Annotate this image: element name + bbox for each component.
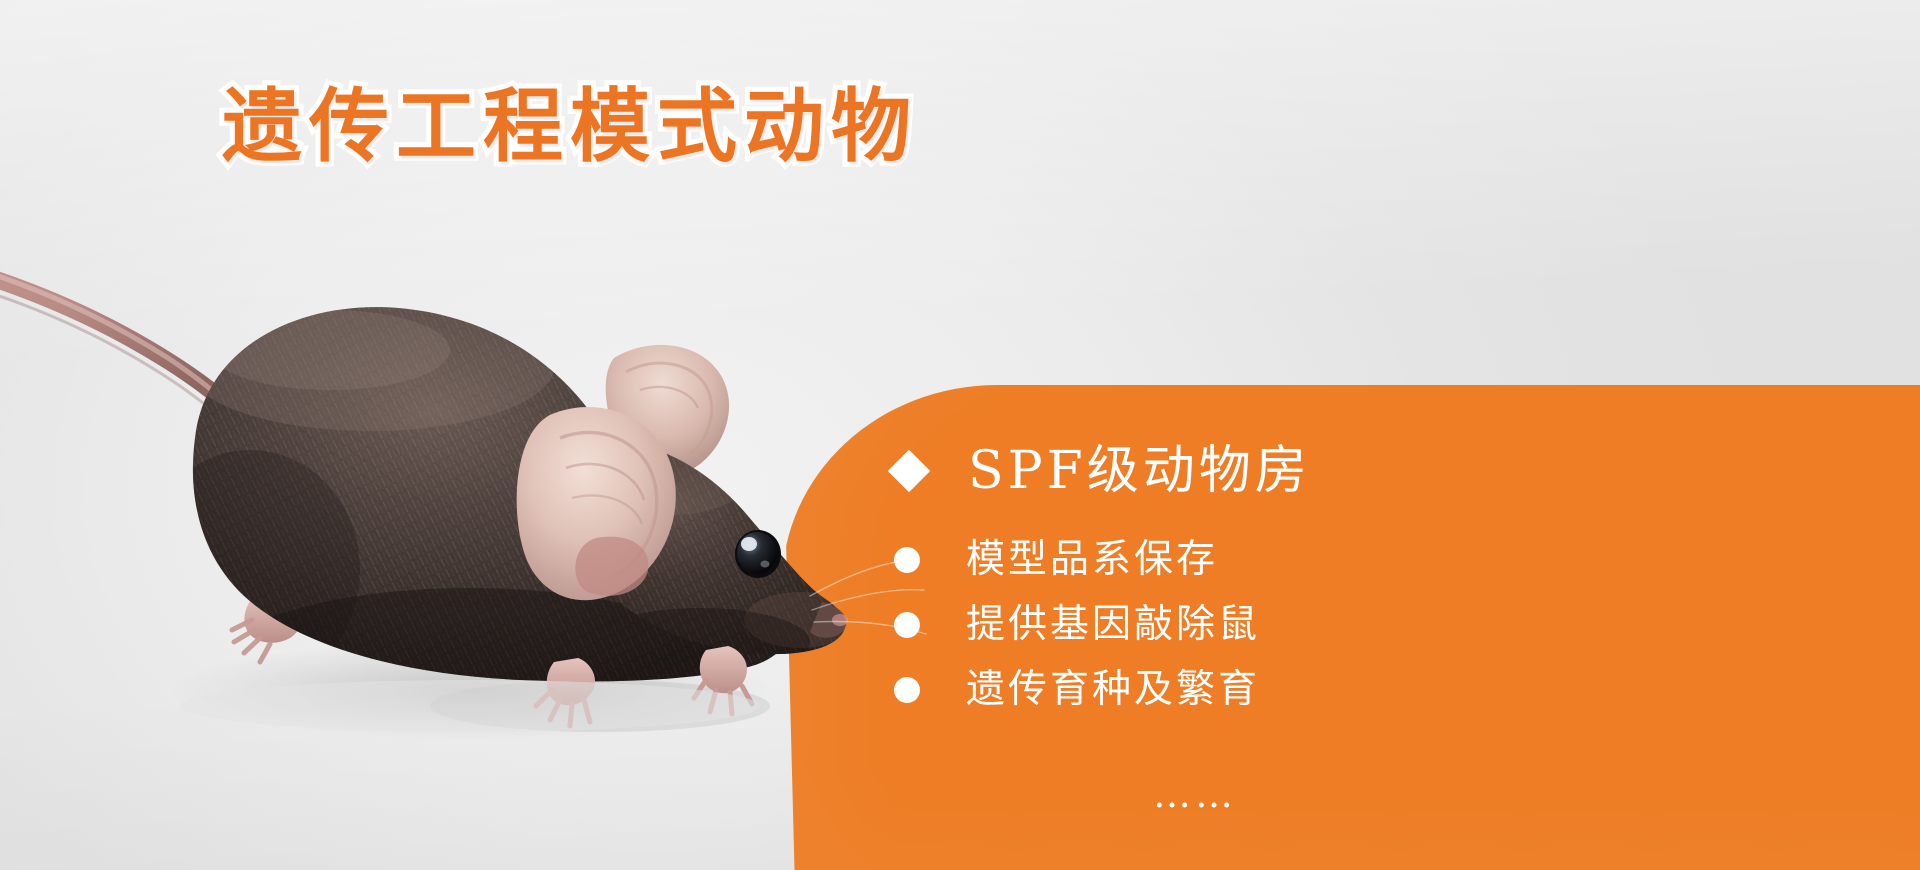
- list-ellipsis: ……: [1153, 775, 1237, 813]
- list-item-label: 模型品系保存: [966, 540, 1218, 579]
- mouse-illustration: [0, 150, 1000, 850]
- panel-heading-label: SPF级动物房: [968, 445, 1311, 497]
- list-item-label: 提供基因敲除鼠: [966, 605, 1260, 644]
- banner-title-wrap: 遗传工程模式动物: [222, 84, 918, 170]
- banner-root: 遗传工程模式动物 SPF级动物房 模型品系保存 提供基因敲除鼠 遗传育种及: [0, 0, 1920, 870]
- list-item-label: 遗传育种及繁育: [966, 670, 1260, 709]
- banner-title: 遗传工程模式动物: [222, 84, 918, 170]
- mouse-eye: [735, 530, 781, 578]
